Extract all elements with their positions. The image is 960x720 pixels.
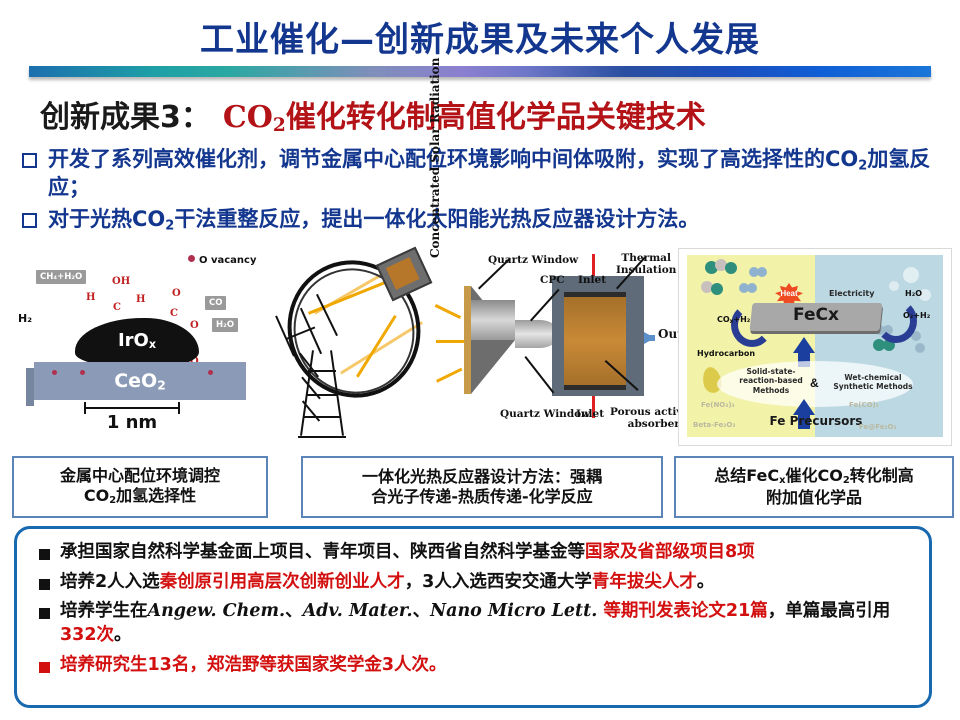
hollow-square-bullet-icon bbox=[22, 213, 37, 228]
subtitle-main: CO2催化转化制高值化学品关键技术 bbox=[223, 100, 706, 135]
list-item: 培养研究生13名，郑浩野等获国家奖学金3人次。 bbox=[39, 654, 915, 678]
square-bullet-icon bbox=[39, 608, 50, 619]
label-h2o-product: H₂O bbox=[905, 289, 922, 298]
o-vacancy-legend: O vacancy bbox=[188, 255, 257, 266]
achievement-text-4: 培养研究生13名，郑浩野等获国家奖学金3人次。 bbox=[60, 654, 447, 678]
o-vacancy-marker bbox=[52, 370, 57, 375]
square-bullet-icon bbox=[39, 579, 50, 590]
top-bullet-item-1: 开发了系列高效催化剂，调节金属中心配位环境影响中间体吸附，实现了高选择性的CO2… bbox=[18, 146, 948, 202]
label-inlet-top: Inlet bbox=[578, 274, 606, 286]
atom-label-c-top: C bbox=[113, 302, 121, 313]
dish-mount-frame bbox=[280, 314, 352, 354]
achievements-panel: 承担国家自然科学基金面上项目、青年项目、陕西省自然科学基金等国家及省部级项目8项… bbox=[14, 526, 932, 708]
hollow-square-bullet-icon bbox=[22, 153, 37, 168]
label-thermal-insulation: ThermalInsulation bbox=[616, 252, 676, 276]
figure-solar-reactor: Concentrated Solar Radiation Quartz Wind… bbox=[430, 248, 680, 444]
inlet-pipe-top bbox=[592, 254, 595, 276]
tag-co: CO bbox=[205, 296, 226, 310]
label-cpc: CPC bbox=[540, 274, 565, 286]
faint-precursor-2: Beta-Fe₂O₃ bbox=[693, 421, 735, 429]
label-quartz-window-top: Quartz Window bbox=[488, 254, 578, 266]
caption-box-3-text: 总结FeCx催化CO2转化制高 附加值化学品 bbox=[714, 466, 914, 508]
atom-label-h-left: H bbox=[86, 292, 95, 303]
quartz-window-front bbox=[464, 286, 471, 394]
achievement-text-3: 培养学生在Angew. Chem.、Adv. Mater.、Nano Micro… bbox=[60, 600, 915, 647]
faint-precursor-3: Fe(CO)₅ bbox=[849, 401, 879, 409]
molecule-sphere bbox=[915, 343, 925, 353]
incoming-ray bbox=[435, 304, 461, 319]
tag-h2o: H₂O bbox=[212, 318, 238, 332]
figure-strip: O vacancy CH₄+H₂O CO H₂O H₂ OH H C H O C… bbox=[0, 248, 960, 446]
top-bullet-item-2: 对于光热CO2干法重整反应，提出一体化太阳能光热反应器设计方法。 bbox=[18, 206, 948, 234]
label-solid-state-methods: Solid-state- reaction-based Methods bbox=[735, 367, 807, 395]
tag-ch4-h2o: CH₄+H₂O bbox=[36, 270, 86, 284]
scale-bar-label: 1 nm bbox=[68, 412, 196, 433]
atom-label-oh: OH bbox=[112, 276, 130, 287]
label-concentrated-solar-radiation: Concentrated Solar Radiation bbox=[428, 108, 442, 258]
list-item: 承担国家自然科学基金面上项目、青年项目、陕西省自然科学基金等国家及省部级项目8项 bbox=[39, 541, 915, 565]
figure-irox-ceo2: O vacancy CH₄+H₂O CO H₂O H₂ OH H C H O C… bbox=[12, 252, 270, 438]
title-divider-bar bbox=[29, 66, 931, 77]
label-o2-h2-product: O₂+H₂ bbox=[903, 311, 930, 320]
incoming-ray bbox=[436, 368, 462, 383]
caption-box-1-text: 金属中心配位环境调控 CO2加氢选择性 bbox=[60, 466, 220, 508]
atom-label-o-1: O bbox=[172, 288, 181, 299]
cpc-cone-inner bbox=[471, 300, 515, 340]
ceo2-label: CeO2 bbox=[34, 362, 246, 400]
molecule-sphere bbox=[757, 267, 767, 277]
caption-box-2: 一体化光热反应器设计方法：强耦 合光子传递-热质传递-化学反应 bbox=[301, 456, 663, 518]
page-title: 工业催化—创新成果及未来个人发展 bbox=[0, 12, 960, 61]
atom-label-c-mid: C bbox=[170, 308, 178, 319]
top-bullet-list: 开发了系列高效催化剂，调节金属中心配位环境影响中间体吸附，实现了高选择性的CO2… bbox=[18, 146, 948, 239]
label-hydrocarbon: Hydrocarbon bbox=[697, 349, 755, 358]
precursor-up-arrow-icon bbox=[793, 399, 815, 415]
caption-box-3: 总结FeCx催化CO2转化制高 附加值化学品 bbox=[674, 456, 954, 518]
label-cox-h2: COx+H₂ bbox=[717, 315, 750, 325]
cpc-throat bbox=[515, 320, 557, 348]
irox-label: IrOx bbox=[75, 330, 199, 351]
faint-precursor-4: Fe@Fe₂O₃ bbox=[859, 423, 897, 431]
incoming-ray bbox=[436, 340, 464, 343]
list-item: 培养2人入选秦创原引用高层次创新创业人才，3人入选西安交通大学青年拔尖人才。 bbox=[39, 571, 915, 595]
ampersand-separator: & bbox=[810, 376, 819, 390]
square-bullet-icon bbox=[39, 549, 50, 560]
figure-parabolic-dish bbox=[278, 250, 438, 442]
top-bullet-text-1: 开发了系列高效催化剂，调节金属中心配位环境影响中间体吸附，实现了高选择性的CO2… bbox=[48, 146, 948, 202]
achievements-list: 承担国家自然科学基金面上项目、青年项目、陕西省自然科学基金等国家及省部级项目8项… bbox=[39, 541, 915, 683]
molecule-sphere bbox=[725, 262, 737, 274]
list-item: 培养学生在Angew. Chem.、Adv. Mater.、Nano Micro… bbox=[39, 600, 915, 647]
section-subtitle: 创新成果3：CO2催化转化制高值化学品关键技术 bbox=[40, 92, 706, 136]
o-vacancy-dot-icon bbox=[188, 255, 195, 262]
bubble bbox=[889, 281, 899, 291]
molecule-sphere bbox=[747, 283, 757, 293]
label-inlet-bottom: Inlet bbox=[576, 408, 604, 420]
dish-support-tower bbox=[298, 350, 348, 438]
subtitle-prefix: 创新成果3： bbox=[40, 100, 211, 135]
achievement-text-2: 培养2人入选秦创原引用高层次创新创业人才，3人入选西安交通大学青年拔尖人才。 bbox=[60, 571, 714, 595]
porous-absorber-core bbox=[564, 292, 626, 390]
square-bullet-icon-red bbox=[39, 662, 50, 673]
label-electricity: Electricity bbox=[829, 289, 874, 298]
bubble bbox=[903, 267, 919, 283]
faint-precursor-1: Fe(NO₃)₃ bbox=[701, 401, 735, 409]
caption-box-1: 金属中心配位环境调控 CO2加氢选择性 bbox=[12, 456, 268, 518]
label-wet-chemical-methods: Wet-chemical Synthetic Methods bbox=[825, 373, 921, 392]
figure-fecx-synthesis: Heat FeCx COx+H₂ Hydrocarbon Electricity… bbox=[678, 248, 952, 446]
label-h2-reactant: H₂ bbox=[18, 312, 32, 325]
outlet-arrow-icon bbox=[644, 332, 655, 344]
synthesis-up-arrow-icon bbox=[793, 337, 815, 353]
molecule-sphere bbox=[711, 283, 723, 295]
leader-line bbox=[525, 356, 555, 393]
achievement-text-1: 承担国家自然科学基金面上项目、青年项目、陕西省自然科学基金等国家及省部级项目8项 bbox=[60, 541, 755, 565]
o-vacancy-marker bbox=[80, 370, 85, 375]
fecx-label: FeCx bbox=[751, 305, 881, 325]
slide-root: 工业催化—创新成果及未来个人发展 创新成果3：CO2催化转化制高值化学品关键技术… bbox=[0, 0, 960, 720]
top-bullet-text-2: 对于光热CO2干法重整反应，提出一体化太阳能光热反应器设计方法。 bbox=[48, 206, 699, 234]
caption-box-2-text: 一体化光热反应器设计方法：强耦 合光子传递-热质传递-化学反应 bbox=[362, 467, 602, 507]
atom-label-h-right: H bbox=[136, 294, 145, 305]
o-vacancy-marker bbox=[208, 370, 213, 375]
